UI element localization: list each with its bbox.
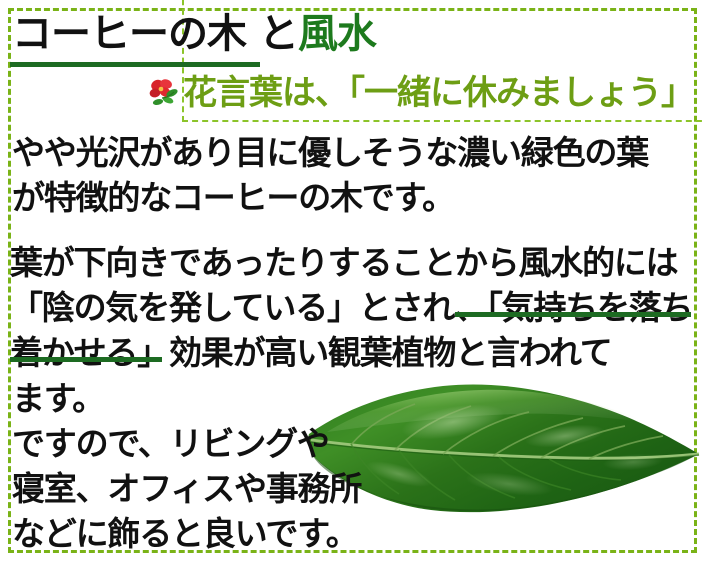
paragraph-one-line-2: が特徴的なコーヒーの木です。 [12, 175, 648, 220]
page-title: コーヒーの木 と風水 [12, 14, 376, 54]
paragraph-two-line-1: 葉が下向きであったりすることから風水的には [10, 240, 692, 285]
tagline: 花言葉は、「一緒に休みましょう」 [148, 76, 694, 110]
paragraph-three-line-3: 寝室、オフィスや事務所 [12, 466, 361, 511]
title-plain-text: コーヒーの木 と [12, 11, 298, 57]
paragraph-two: 葉が下向きであったりすることから風水的には 「陰の気を発している」とされ、「気持… [10, 240, 692, 375]
phrase-underline-part-1 [455, 312, 691, 317]
title-underline-rule [10, 62, 260, 67]
paragraph-two-line-3: 着かせる」効果が高い観葉植物と言われて [10, 330, 692, 375]
promo-banner: コーヒーの木 と風水 [0, 0, 705, 561]
paragraph-two-line-2: 「陰の気を発している」とされ、「気持ちを落ち [10, 285, 692, 330]
flower-icon [148, 78, 182, 108]
paragraph-three-line-2: ですので、リビングや [12, 421, 361, 466]
paragraph-three-line-1: ます。 [12, 376, 361, 421]
paragraph-three: ます。 ですので、リビングや 寝室、オフィスや事務所 などに飾ると良いです。 [12, 376, 361, 556]
paragraph-three-line-4: などに飾ると良いです。 [12, 511, 361, 556]
title-accent-text: 風水 [298, 11, 376, 57]
tagline-text: 花言葉は、「一緒に休みましょう」 [183, 76, 694, 110]
paragraph-one-line-1: やや光沢があり目に優しそうな濃い緑色の葉 [12, 130, 648, 175]
phrase-underline-part-2 [10, 357, 162, 362]
paragraph-one: やや光沢があり目に優しそうな濃い緑色の葉 が特徴的なコーヒーの木です。 [12, 130, 648, 220]
